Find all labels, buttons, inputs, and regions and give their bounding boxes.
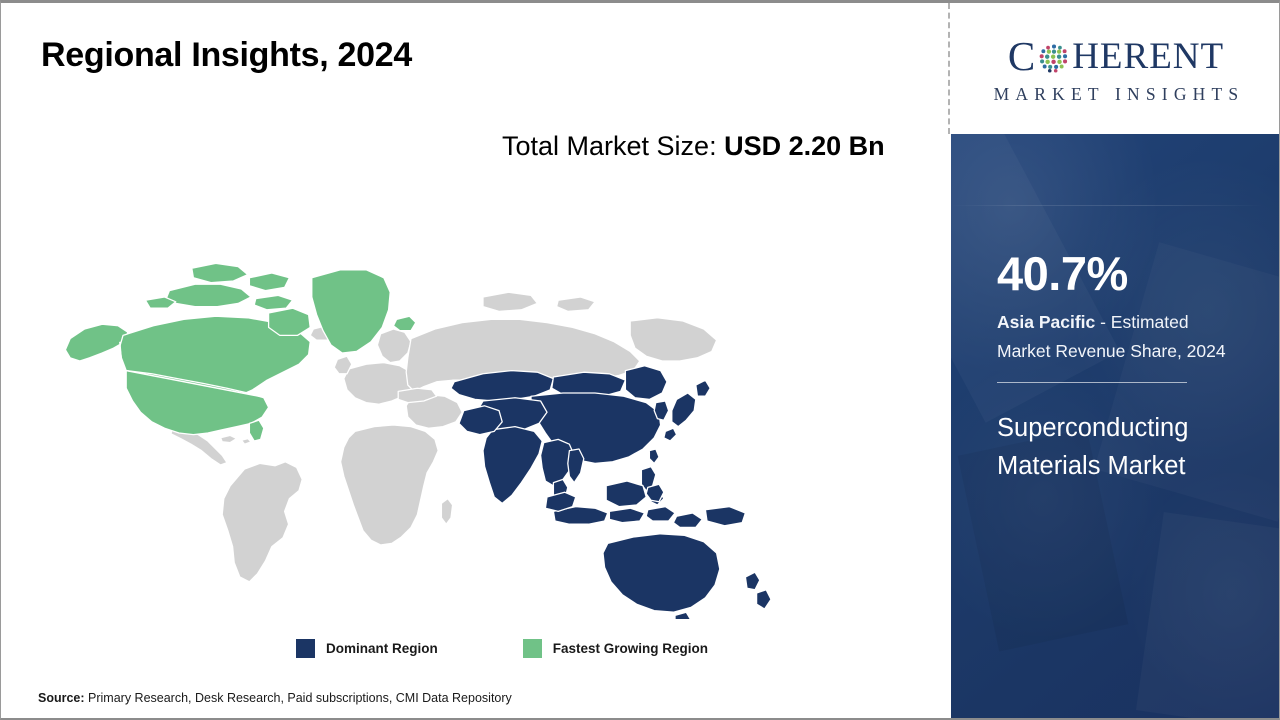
legend-item-dominant: Dominant Region bbox=[296, 639, 438, 658]
total-market-size-label: Total Market Size: bbox=[502, 131, 724, 161]
highlight-panel: 40.7% Asia Pacific - Estimated Market Re… bbox=[951, 134, 1280, 720]
page-title: Regional Insights, 2024 bbox=[41, 36, 412, 75]
map-region-dominant bbox=[451, 366, 771, 619]
map-region-fastest-growing bbox=[65, 263, 415, 441]
source-label: Source: bbox=[38, 691, 85, 705]
market-name: Superconducting Materials Market bbox=[997, 410, 1245, 486]
right-rail: C bbox=[951, 3, 1280, 720]
market-share-description: Asia Pacific - Estimated Market Revenue … bbox=[997, 308, 1245, 365]
map-legend: Dominant Region Fastest Growing Region bbox=[296, 639, 708, 658]
logo-tagline: MARKET INSIGHTS bbox=[988, 84, 1245, 105]
legend-label-fastest-growing: Fastest Growing Region bbox=[553, 641, 708, 656]
world-map bbox=[35, 199, 835, 619]
logo-word-rest: HERENT bbox=[1072, 38, 1224, 75]
source-note: Source: Primary Research, Desk Research,… bbox=[38, 691, 512, 705]
logo-letter-c: C bbox=[1008, 36, 1036, 77]
brand-logo: C bbox=[951, 3, 1280, 134]
legend-item-fastest-growing: Fastest Growing Region bbox=[523, 639, 708, 658]
slide-canvas: Regional Insights, 2024 Total Market Siz… bbox=[0, 0, 1280, 720]
region-name: Asia Pacific bbox=[997, 312, 1095, 332]
panel-content: 40.7% Asia Pacific - Estimated Market Re… bbox=[997, 250, 1245, 486]
legend-label-dominant: Dominant Region bbox=[326, 641, 438, 656]
legend-swatch-dominant bbox=[296, 639, 315, 658]
panel-texture-shape bbox=[1136, 512, 1280, 720]
logo-wordmark: C bbox=[1008, 36, 1224, 77]
vertical-dashed-divider bbox=[948, 3, 950, 134]
total-market-size-value: USD 2.20 Bn bbox=[724, 131, 885, 161]
dotted-globe-icon bbox=[1037, 41, 1071, 75]
left-content-pane: Regional Insights, 2024 Total Market Siz… bbox=[1, 3, 949, 720]
market-share-value: 40.7% bbox=[997, 250, 1245, 297]
total-market-size: Total Market Size: USD 2.20 Bn bbox=[502, 127, 902, 166]
panel-divider bbox=[997, 382, 1187, 383]
legend-swatch-fastest-growing bbox=[523, 639, 542, 658]
source-text: Primary Research, Desk Research, Paid su… bbox=[85, 691, 512, 705]
world-map-svg bbox=[35, 199, 835, 619]
